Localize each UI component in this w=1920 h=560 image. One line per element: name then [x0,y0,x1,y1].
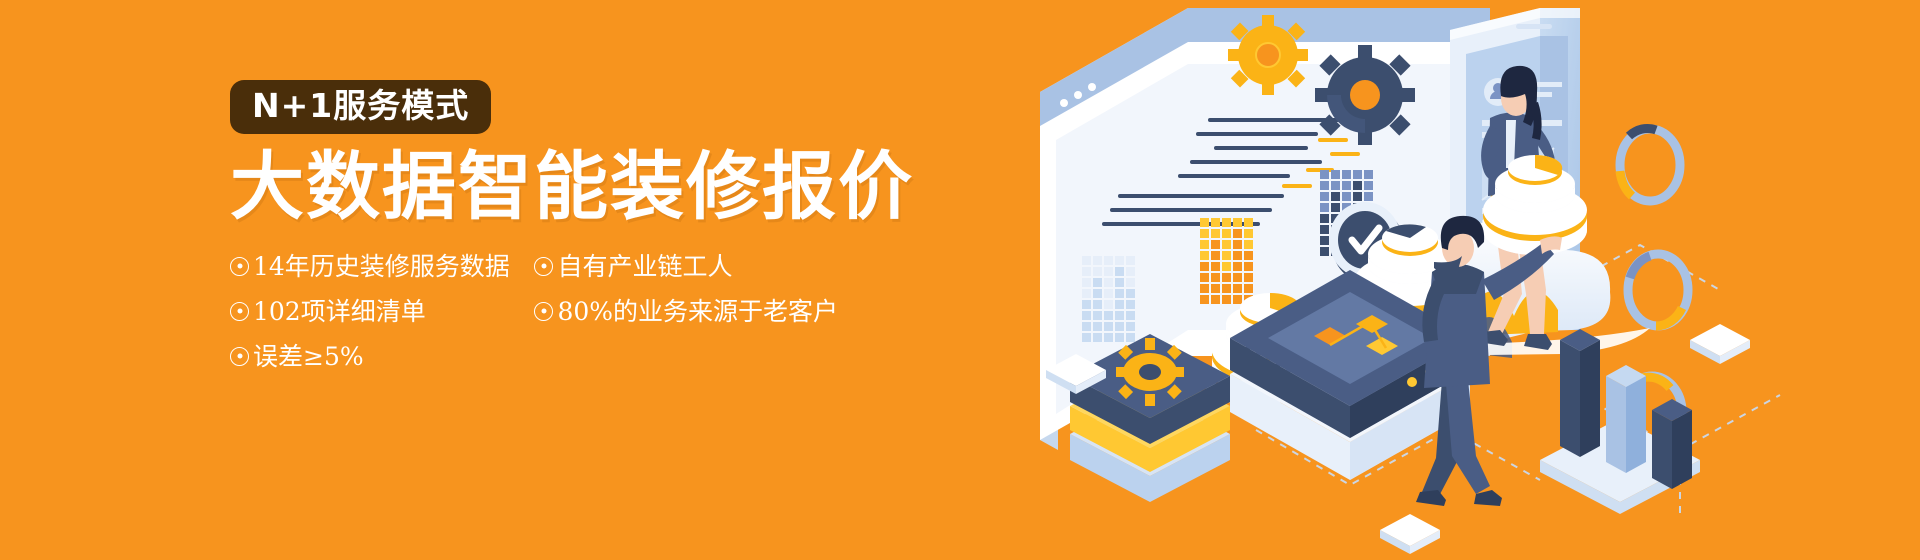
donut-ring-1 [1620,128,1680,201]
floating-tile-3 [1690,324,1750,364]
bar-chart-pillars [1540,329,1700,514]
circled-dot-icon [230,347,249,366]
banner-headline: 大数据智能装修报价 [230,148,970,228]
list-item: 误差≥5% [230,344,530,369]
list-item: 102项详细清单 [230,299,530,324]
isometric-illustration [1020,0,1920,560]
bullet-label: 102项详细清单 [253,297,426,326]
bullet-label: 80%的业务来源于老客户 [557,297,838,326]
bullet-column-left: 14年历史装修服务数据 102项详细清单 误差≥5% [230,254,530,389]
list-item: 14年历史装修服务数据 [230,254,530,279]
circled-dot-icon [230,302,249,321]
service-model-badge: N+1服务模式 [230,80,491,134]
bullet-column-right: 自有产业链工人 80%的业务来源于老客户 [534,254,854,344]
bullet-label: 自有产业链工人 [557,252,732,281]
marketing-banner: N+1服务模式 大数据智能装修报价 14年历史装修服务数据 102项详细清单 误… [0,0,1920,560]
bullet-label: 误差≥5% [253,342,364,371]
list-item: 80%的业务来源于老客户 [534,299,854,324]
circled-dot-icon [534,302,553,321]
banner-text-block: N+1服务模式 大数据智能装修报价 14年历史装修服务数据 102项详细清单 误… [230,80,970,389]
list-item: 自有产业链工人 [534,254,854,279]
gear-orange [1228,15,1308,95]
donut-ring-2 [1628,254,1688,326]
gear-navy [1315,45,1415,145]
floating-tile-2 [1380,514,1440,554]
feature-bullet-list: 14年历史装修服务数据 102项详细清单 误差≥5% 自有产业链工人 80%的业… [230,254,870,389]
circled-dot-icon [230,257,249,276]
circled-dot-icon [534,257,553,276]
bullet-label: 14年历史装修服务数据 [253,252,510,281]
